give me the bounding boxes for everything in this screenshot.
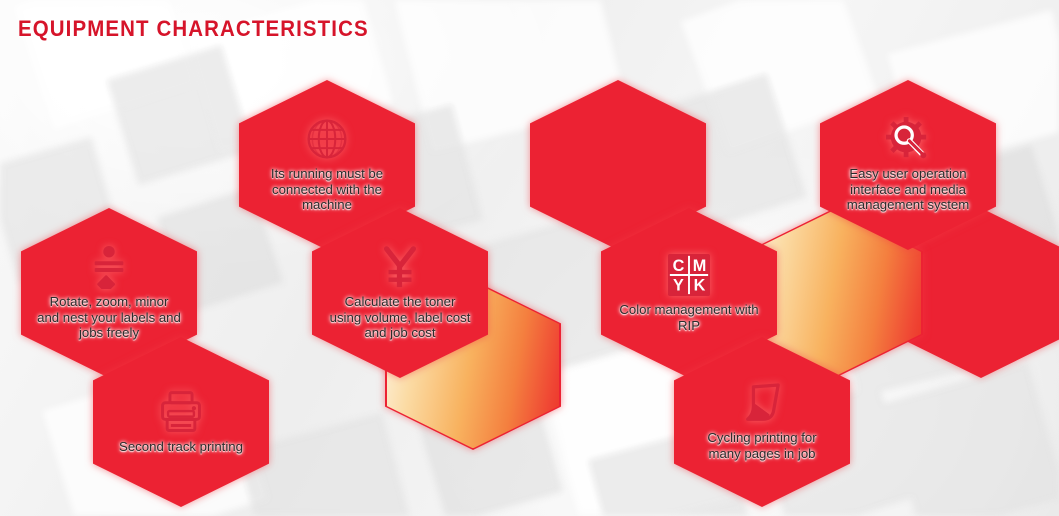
hex-cell-cycling[interactable]: Cycling printing for many pages in job — [674, 337, 850, 507]
hexagon-grid: Its running must be connected with the m… — [0, 0, 1059, 516]
hex-cell-toner[interactable]: Calculate the toner using volume, label … — [312, 208, 488, 378]
page-title: EQUIPMENT CHARACTERISTICS — [18, 16, 369, 42]
hex-cell-gear[interactable]: Easy user operation interface and media … — [820, 80, 996, 250]
hex-cell-printer[interactable]: Second track printing — [93, 337, 269, 507]
